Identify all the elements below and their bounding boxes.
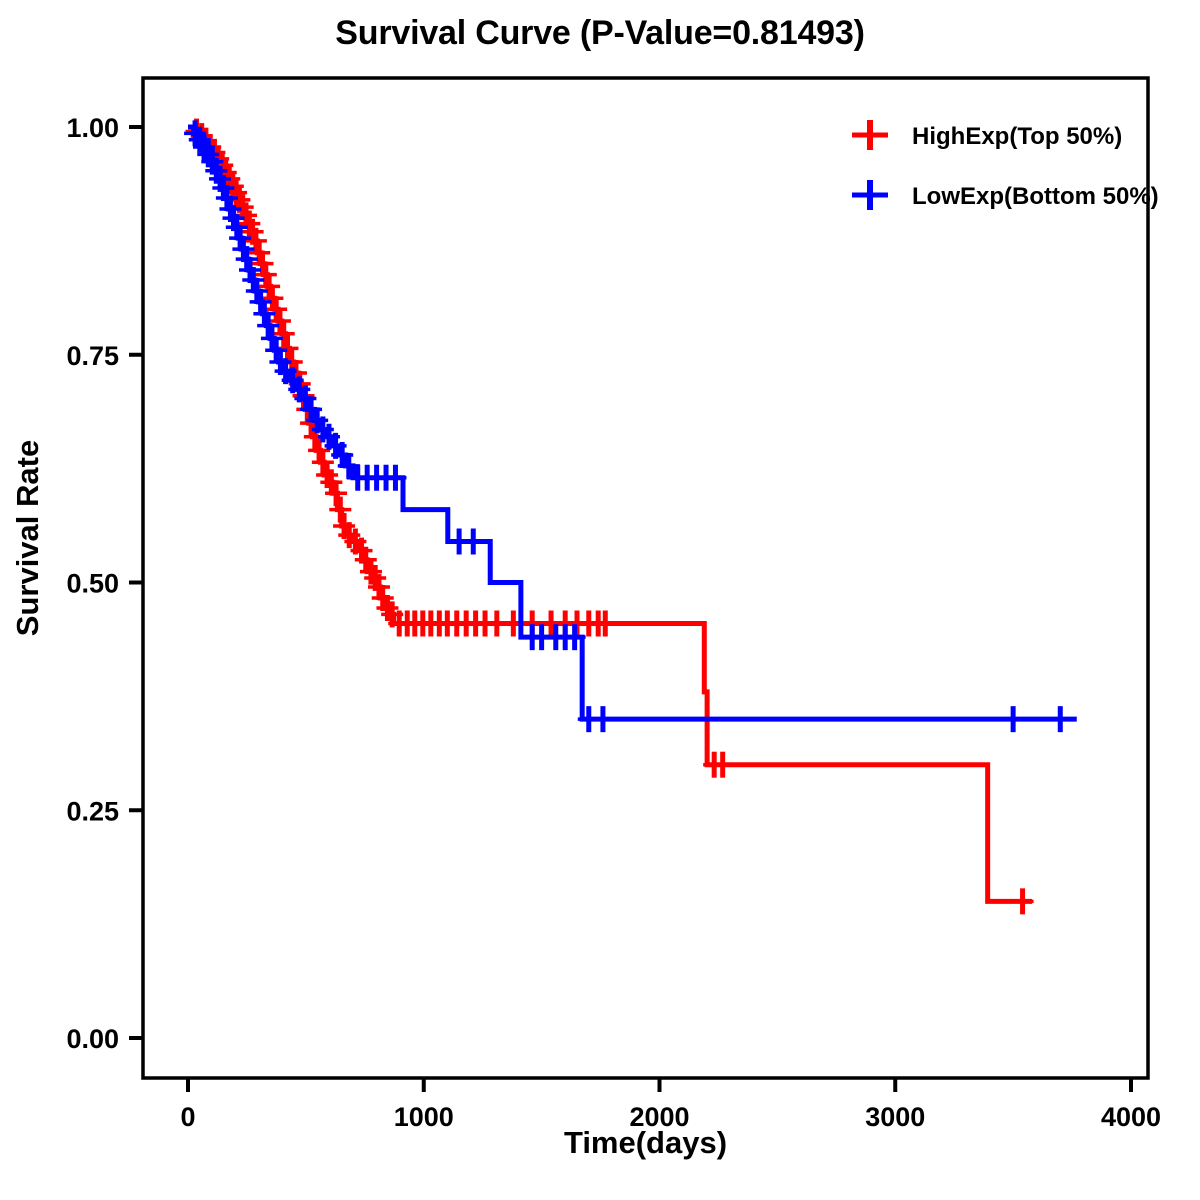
legend-label: HighExp(Top 50%) (912, 123, 1122, 150)
series-lowexp (184, 120, 1077, 732)
censor-mark (1049, 706, 1071, 732)
series-layer (184, 119, 1077, 915)
x-tick-label: 2000 (629, 1102, 689, 1132)
x-tick-label: 0 (180, 1102, 195, 1132)
plus-marker-icon (852, 180, 888, 210)
plot-area: 01000200030004000 0.000.250.500.751.00 H… (0, 0, 1200, 1200)
plus-marker-icon (852, 120, 888, 150)
censor-mark (592, 706, 614, 732)
y-tick-label: 1.00 (66, 113, 119, 143)
y-tick-label: 0.50 (66, 569, 119, 599)
legend-item-highexp[interactable]: HighExp(Top 50%) (852, 120, 1122, 150)
x-tick-label: 4000 (1101, 1102, 1161, 1132)
censor-mark (329, 497, 351, 523)
chart-legend: HighExp(Top 50%)LowExp(Bottom 50%) (852, 120, 1159, 210)
survival-curve-figure: Survival Curve (P-Value=0.81493) Surviva… (0, 0, 1200, 1200)
legend-label: LowExp(Bottom 50%) (912, 183, 1159, 210)
y-tick-label: 0.25 (66, 796, 119, 826)
series-highexp (185, 119, 1033, 915)
y-tick-label: 0.75 (66, 341, 119, 371)
x-tick-label: 1000 (394, 1102, 454, 1132)
plot-frame (143, 78, 1148, 1078)
x-axis-ticks: 01000200030004000 (180, 1078, 1161, 1132)
y-axis-ticks: 0.000.250.500.751.00 (66, 113, 143, 1054)
y-tick-label: 0.00 (66, 1024, 119, 1054)
x-tick-label: 3000 (865, 1102, 925, 1132)
legend-item-lowexp[interactable]: LowExp(Bottom 50%) (852, 180, 1159, 210)
censor-mark (462, 529, 484, 555)
censor-mark (1012, 888, 1034, 914)
survival-step-line (188, 127, 1032, 901)
censor-mark (1002, 706, 1024, 732)
